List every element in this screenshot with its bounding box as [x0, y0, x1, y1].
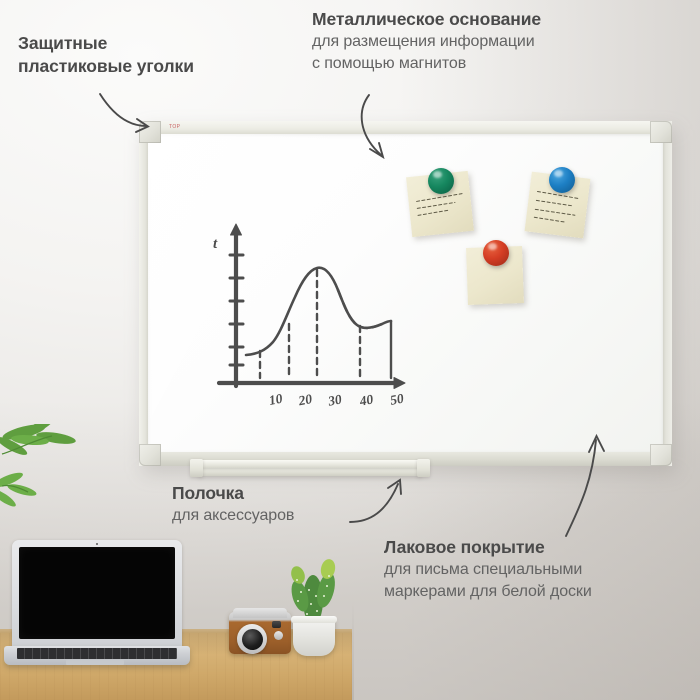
- svg-text:t: t: [213, 236, 218, 252]
- cactus-in-pot: [283, 556, 343, 656]
- annotation-shelf-subtitle: для аксессуаров: [172, 505, 294, 527]
- cactus-pot-rim: [291, 616, 337, 623]
- svg-text:20: 20: [296, 391, 313, 409]
- camera-flash: [272, 621, 281, 628]
- annotation-corners-title: Защитные: [18, 32, 194, 55]
- camera-top-plate: [233, 608, 287, 618]
- wall-corner-seam: [352, 600, 354, 700]
- whiteboard-sketch-chart: t 10 20 30 40 50: [205, 218, 420, 418]
- annotation-shelf: Полочка для аксессуаров: [172, 482, 294, 527]
- laptop-screen: [19, 547, 175, 639]
- camera-lens: [242, 629, 263, 650]
- laptop-lid: [12, 540, 182, 648]
- accessory-tray: [190, 457, 430, 479]
- svg-text:40: 40: [357, 391, 374, 409]
- annotation-shelf-arrow: [348, 478, 414, 531]
- green-magnet: [428, 168, 454, 194]
- annotation-shelf-title: Полочка: [172, 482, 294, 505]
- houseplant-leaves: [0, 424, 110, 554]
- tray-rail: [198, 460, 422, 468]
- laptop: [4, 540, 194, 670]
- annotation-metal-base: Металлическое основание для размещения и…: [312, 8, 541, 75]
- protective-corner-bottom-left: [139, 444, 161, 466]
- annotation-metal-base-title: Металлическое основание: [312, 8, 541, 31]
- frame-left-rail: [139, 121, 148, 466]
- tray-end-cap-right: [417, 459, 430, 477]
- annotation-lacquer-subtitle: для письма специальными: [384, 559, 592, 581]
- infographic-scene: TOP: [0, 0, 700, 700]
- laptop-webcam-icon: [96, 543, 99, 546]
- annotation-corners: Защитные пластиковые уголки: [18, 32, 194, 78]
- instant-camera: [229, 604, 291, 656]
- cactus-pot: [293, 618, 335, 656]
- svg-text:10: 10: [268, 391, 284, 408]
- annotation-metal-base-arrow: [345, 93, 411, 170]
- annotation-lacquer-title: Лаковое покрытие: [384, 536, 592, 559]
- annotation-metal-base-subtitle-line2: с помощью магнитов: [312, 53, 541, 75]
- protective-corner-top-right: [650, 121, 672, 143]
- laptop-trackpad: [66, 660, 124, 665]
- annotation-lacquer-arrow: [562, 432, 614, 543]
- annotation-corners-title-line2: пластиковые уголки: [18, 55, 194, 78]
- annotation-metal-base-subtitle: для размещения информации: [312, 31, 541, 53]
- camera-shutter-button: [274, 631, 283, 640]
- camera-lens-ring: [237, 624, 267, 654]
- annotation-lacquer-subtitle-line2: маркерами для белой доски: [384, 581, 592, 603]
- annotation-corners-arrow: [96, 86, 176, 149]
- blue-magnet: [549, 167, 575, 193]
- frame-right-rail: [663, 121, 672, 466]
- tray-end-cap-left: [190, 459, 203, 477]
- svg-text:50: 50: [389, 391, 405, 408]
- annotation-lacquer: Лаковое покрытие для письма специальными…: [384, 536, 592, 603]
- red-magnet: [483, 240, 509, 266]
- protective-corner-bottom-right: [650, 444, 672, 466]
- svg-text:30: 30: [326, 391, 343, 409]
- laptop-keyboard: [17, 648, 177, 659]
